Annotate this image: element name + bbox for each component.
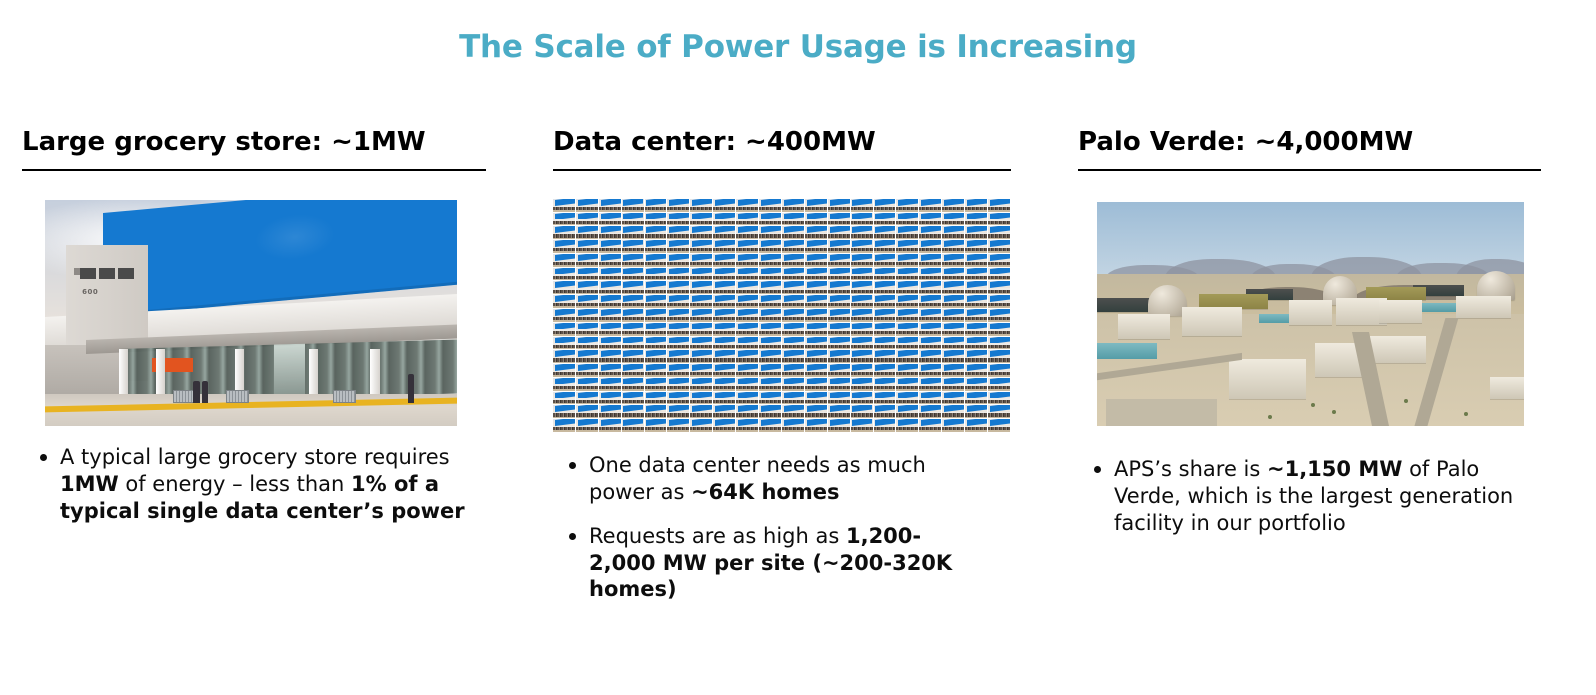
tile-ground	[690, 348, 712, 350]
tile-ground	[828, 375, 850, 377]
tile-ground	[599, 238, 621, 240]
store-tile	[805, 240, 827, 253]
store-tile	[713, 309, 735, 322]
store-tile	[622, 309, 644, 322]
tile-ground	[942, 293, 964, 295]
store-tile	[622, 213, 644, 226]
store-tile	[736, 199, 758, 212]
tile-ground	[851, 320, 873, 322]
store-tile	[690, 364, 712, 377]
store-tile	[782, 295, 804, 308]
store-tile	[942, 419, 964, 432]
tile-ground	[828, 251, 850, 253]
tile-ground	[805, 238, 827, 240]
tile-ground	[645, 375, 667, 377]
store-tile	[759, 295, 781, 308]
store-tile	[645, 268, 667, 281]
store-tile	[988, 350, 1010, 363]
store-tile	[690, 309, 712, 322]
tile-ground	[759, 306, 781, 308]
tile-ground	[713, 389, 735, 391]
tile-ground	[645, 362, 667, 364]
shopping-cart	[333, 390, 356, 403]
store-tile	[965, 364, 987, 377]
office-building	[1229, 359, 1306, 399]
tile-ground	[553, 348, 575, 350]
store-tile	[576, 240, 598, 253]
store-tile	[942, 309, 964, 322]
store-tile	[599, 419, 621, 432]
tile-ground	[851, 224, 873, 226]
store-tile	[576, 323, 598, 336]
store-tile	[942, 405, 964, 418]
store-tile	[874, 281, 896, 294]
tile-ground	[553, 238, 575, 240]
tile-ground	[667, 348, 689, 350]
tile-ground	[690, 320, 712, 322]
store-tile	[759, 350, 781, 363]
store-tile	[553, 254, 575, 267]
store-tile	[965, 295, 987, 308]
store-tile	[553, 378, 575, 391]
tile-ground	[874, 430, 896, 432]
tile-ground	[576, 403, 598, 405]
tile-ground	[645, 403, 667, 405]
tile-ground	[713, 224, 735, 226]
tile-ground	[782, 265, 804, 267]
store-tile	[736, 323, 758, 336]
store-tile	[805, 226, 827, 239]
store-tile	[553, 405, 575, 418]
tile-ground	[988, 348, 1010, 350]
tile-ground	[622, 362, 644, 364]
store-tile	[782, 281, 804, 294]
store-tile	[874, 337, 896, 350]
tile-ground	[576, 320, 598, 322]
tile-ground	[988, 279, 1010, 281]
store-tile	[713, 254, 735, 267]
store-tile	[690, 213, 712, 226]
store-tile	[919, 405, 941, 418]
store-tile	[736, 337, 758, 350]
tile-ground	[736, 224, 758, 226]
tile-ground	[553, 251, 575, 253]
store-tile	[851, 392, 873, 405]
store-tile	[782, 378, 804, 391]
tile-ground	[690, 362, 712, 364]
tile-ground	[736, 251, 758, 253]
store-tile	[851, 240, 873, 253]
store-tile	[896, 309, 918, 322]
tile-ground	[759, 334, 781, 336]
tile-ground	[690, 224, 712, 226]
tile-ground	[896, 430, 918, 432]
tile-ground	[965, 375, 987, 377]
tile-ground	[828, 320, 850, 322]
store-tile	[553, 419, 575, 432]
tile-ground	[805, 210, 827, 212]
store-tile	[759, 364, 781, 377]
tile-ground	[942, 403, 964, 405]
store-tile	[759, 323, 781, 336]
store-tile-grid	[553, 199, 1010, 432]
store-tile	[965, 405, 987, 418]
store-tile	[805, 337, 827, 350]
tile-ground	[736, 334, 758, 336]
store-tile	[553, 213, 575, 226]
tile-ground	[736, 430, 758, 432]
store-tile	[599, 240, 621, 253]
tile-ground	[553, 279, 575, 281]
store-tile	[690, 226, 712, 239]
tile-ground	[782, 320, 804, 322]
store-tile	[805, 268, 827, 281]
tile-ground	[690, 334, 712, 336]
tile-ground	[942, 279, 964, 281]
store-tile	[965, 337, 987, 350]
store-tile	[622, 268, 644, 281]
tile-ground	[988, 430, 1010, 432]
store-tile	[599, 281, 621, 294]
tile-ground	[713, 348, 735, 350]
store-tile	[622, 295, 644, 308]
store-tile	[942, 295, 964, 308]
tile-ground	[576, 279, 598, 281]
tile-ground	[896, 334, 918, 336]
store-tile	[713, 281, 735, 294]
tile-ground	[919, 334, 941, 336]
tile-ground	[759, 430, 781, 432]
tile-ground	[576, 293, 598, 295]
tile-ground	[599, 348, 621, 350]
store-tile	[667, 268, 689, 281]
store-tile	[645, 213, 667, 226]
tile-ground	[576, 210, 598, 212]
store-tile	[851, 350, 873, 363]
tile-ground	[759, 389, 781, 391]
store-tile	[645, 199, 667, 212]
store-tile	[828, 226, 850, 239]
tile-ground	[645, 348, 667, 350]
store-tile	[622, 337, 644, 350]
office-building	[1490, 377, 1524, 399]
store-tile	[690, 295, 712, 308]
store-tile	[645, 405, 667, 418]
tile-ground	[622, 279, 644, 281]
tile-ground	[645, 293, 667, 295]
tile-ground	[713, 320, 735, 322]
store-tile	[782, 309, 804, 322]
tile-ground	[828, 306, 850, 308]
tile-ground	[919, 224, 941, 226]
comparison-columns: Large grocery store: ~1MW 600	[0, 128, 1596, 688]
plain-text: Requests are as high as	[589, 524, 846, 548]
tile-ground	[965, 417, 987, 419]
tile-ground	[919, 238, 941, 240]
store-tile	[622, 281, 644, 294]
tile-ground	[874, 224, 896, 226]
store-tile	[874, 392, 896, 405]
store-tile	[713, 240, 735, 253]
store-tile	[851, 268, 873, 281]
store-tile	[599, 254, 621, 267]
grocery-store-illustration: 600	[45, 200, 457, 426]
tile-ground	[965, 265, 987, 267]
tile-ground	[713, 375, 735, 377]
store-tile	[645, 337, 667, 350]
store-tile	[690, 199, 712, 212]
store-tile	[553, 199, 575, 212]
store-tile	[828, 240, 850, 253]
store-tile	[851, 295, 873, 308]
tile-ground	[667, 389, 689, 391]
tile-ground	[576, 306, 598, 308]
tile-ground	[805, 224, 827, 226]
store-tile	[942, 254, 964, 267]
store-tile	[988, 295, 1010, 308]
tile-ground	[965, 238, 987, 240]
store-tile	[919, 226, 941, 239]
tile-ground	[690, 279, 712, 281]
store-tile	[919, 254, 941, 267]
tile-ground	[645, 389, 667, 391]
tile-ground	[874, 238, 896, 240]
store-tile	[576, 295, 598, 308]
tile-ground	[988, 320, 1010, 322]
tile-ground	[874, 251, 896, 253]
store-tile	[942, 337, 964, 350]
bullet-text: A typical large grocery store requires 1…	[60, 445, 465, 523]
store-tile	[667, 378, 689, 391]
tile-ground	[713, 251, 735, 253]
tile-ground	[667, 417, 689, 419]
tile-ground	[782, 293, 804, 295]
tile-ground	[759, 265, 781, 267]
store-tile	[645, 295, 667, 308]
store-tile	[988, 226, 1010, 239]
tile-ground	[988, 334, 1010, 336]
tile-ground	[851, 210, 873, 212]
store-tile	[622, 419, 644, 432]
tile-ground	[874, 293, 896, 295]
bullet-list-grocery-store: A typical large grocery store requires 1…	[28, 444, 494, 525]
tile-ground	[828, 238, 850, 240]
tile-ground	[874, 334, 896, 336]
tile-ground	[645, 251, 667, 253]
tile-ground	[645, 334, 667, 336]
store-tile	[553, 295, 575, 308]
store-tile	[851, 337, 873, 350]
tile-ground	[874, 389, 896, 391]
tile-ground	[690, 210, 712, 212]
tile-ground	[919, 403, 941, 405]
store-tile	[805, 254, 827, 267]
tile-ground	[988, 238, 1010, 240]
store-tile	[645, 323, 667, 336]
store-tile	[713, 213, 735, 226]
tile-ground	[759, 210, 781, 212]
store-tile	[782, 337, 804, 350]
tile-ground	[667, 403, 689, 405]
tile-ground	[874, 362, 896, 364]
tile-ground	[622, 375, 644, 377]
tile-ground	[942, 334, 964, 336]
tile-ground	[919, 279, 941, 281]
store-tile	[965, 240, 987, 253]
store-tile	[622, 240, 644, 253]
tile-ground	[874, 210, 896, 212]
tile-ground	[942, 238, 964, 240]
store-tile	[667, 323, 689, 336]
store-tile	[667, 337, 689, 350]
store-tile	[622, 254, 644, 267]
store-tile	[805, 295, 827, 308]
store-tile	[690, 419, 712, 432]
tile-ground	[713, 403, 735, 405]
store-tile	[896, 364, 918, 377]
store-tile	[919, 364, 941, 377]
tile-ground	[782, 417, 804, 419]
tile-ground	[759, 417, 781, 419]
tile-ground	[645, 306, 667, 308]
tile-ground	[622, 265, 644, 267]
tile-ground	[553, 320, 575, 322]
tile-ground	[828, 279, 850, 281]
store-tile	[828, 254, 850, 267]
tile-ground	[736, 293, 758, 295]
store-tile	[576, 309, 598, 322]
store-tile	[736, 213, 758, 226]
list-item: One data center needs as much power as ~…	[557, 452, 987, 506]
store-tile	[759, 226, 781, 239]
store-tile	[759, 281, 781, 294]
bullet-text: One data center needs as much power as ~…	[589, 453, 926, 504]
tile-ground	[599, 403, 621, 405]
store-tile	[713, 337, 735, 350]
tile-ground	[942, 362, 964, 364]
store-tile	[919, 268, 941, 281]
store-tile	[713, 199, 735, 212]
column-heading-data-center: Data center: ~400MW	[545, 128, 1045, 158]
tile-ground	[942, 430, 964, 432]
store-tile	[874, 364, 896, 377]
tile-ground	[713, 293, 735, 295]
store-tile	[713, 323, 735, 336]
store-tile	[851, 405, 873, 418]
tile-ground	[759, 362, 781, 364]
tile-ground	[805, 362, 827, 364]
tile-ground	[805, 430, 827, 432]
store-tile	[851, 309, 873, 322]
store-tile	[965, 323, 987, 336]
tile-ground	[713, 362, 735, 364]
store-tile	[828, 281, 850, 294]
tile-ground	[667, 265, 689, 267]
tile-ground	[782, 251, 804, 253]
store-tile	[828, 213, 850, 226]
store-tile	[828, 350, 850, 363]
tile-ground	[599, 224, 621, 226]
tile-ground	[988, 210, 1010, 212]
store-tile	[759, 405, 781, 418]
store-tile	[919, 240, 941, 253]
store-tile	[553, 392, 575, 405]
store-tile	[622, 350, 644, 363]
store-tile	[576, 281, 598, 294]
tile-ground	[713, 210, 735, 212]
tile-ground	[919, 348, 941, 350]
store-tile	[736, 350, 758, 363]
store-tile	[553, 281, 575, 294]
store-tile	[759, 392, 781, 405]
tile-ground	[667, 430, 689, 432]
tile-ground	[667, 238, 689, 240]
store-tile	[965, 226, 987, 239]
tile-ground	[896, 293, 918, 295]
tile-ground	[782, 306, 804, 308]
store-tile	[736, 226, 758, 239]
tile-ground	[713, 279, 735, 281]
store-tile	[736, 240, 758, 253]
store-tile	[874, 268, 896, 281]
tile-ground	[828, 430, 850, 432]
tile-ground	[919, 265, 941, 267]
store-tile	[599, 337, 621, 350]
tile-ground	[828, 348, 850, 350]
store-tile	[553, 309, 575, 322]
tile-ground	[690, 251, 712, 253]
tile-ground	[713, 334, 735, 336]
store-tile	[874, 350, 896, 363]
tile-ground	[988, 362, 1010, 364]
tile-ground	[874, 265, 896, 267]
tile-ground	[782, 348, 804, 350]
store-tile	[690, 240, 712, 253]
tile-ground	[759, 320, 781, 322]
tile-ground	[874, 306, 896, 308]
tile-ground	[965, 348, 987, 350]
store-tile	[828, 268, 850, 281]
tile-ground	[965, 389, 987, 391]
store-tile	[645, 392, 667, 405]
tile-ground	[965, 430, 987, 432]
tile-ground	[690, 306, 712, 308]
tile-ground	[645, 430, 667, 432]
tile-ground	[942, 375, 964, 377]
tile-ground	[851, 389, 873, 391]
tile-ground	[919, 210, 941, 212]
store-tile	[965, 254, 987, 267]
tile-ground	[690, 430, 712, 432]
store-tile	[874, 378, 896, 391]
store-tile	[736, 378, 758, 391]
tile-ground	[919, 293, 941, 295]
store-tile	[553, 268, 575, 281]
column-heading-palo-verde: Palo Verde: ~4,000MW	[1070, 128, 1570, 158]
store-tile	[896, 281, 918, 294]
store-tile	[851, 378, 873, 391]
store-tile	[896, 254, 918, 267]
tile-ground	[805, 320, 827, 322]
tile-ground	[874, 279, 896, 281]
tile-ground	[713, 306, 735, 308]
tile-ground	[667, 279, 689, 281]
wall-vents	[80, 268, 134, 279]
store-tile	[896, 337, 918, 350]
store-tile	[645, 364, 667, 377]
store-tile	[919, 213, 941, 226]
tile-ground	[965, 210, 987, 212]
